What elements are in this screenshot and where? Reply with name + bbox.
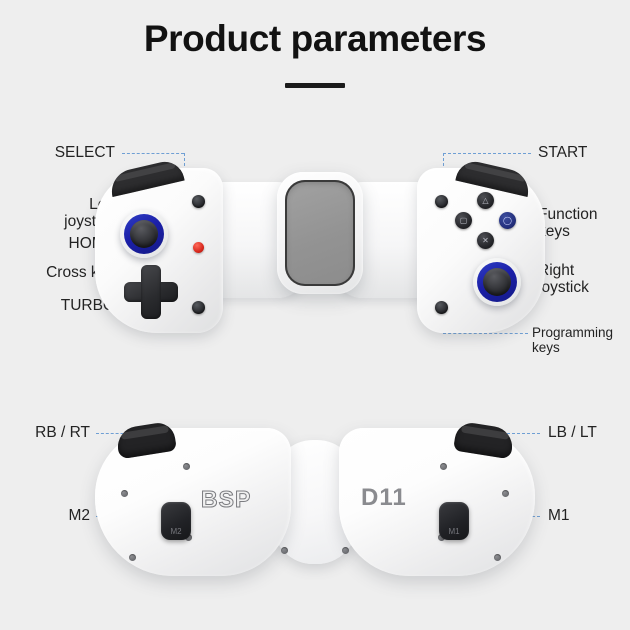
dpad-vertical-bar[interactable] — [141, 265, 161, 319]
lb-lt-trigger[interactable] — [453, 421, 515, 460]
label-lb-lt: LB / LT — [548, 424, 630, 441]
left-shoulder-bumper — [107, 158, 184, 197]
phone-holder-pad — [285, 180, 355, 286]
m1-paddle-button[interactable]: M1 — [439, 502, 469, 540]
title-underline-accent — [285, 83, 345, 88]
rear-shell-right: M1 D11 — [339, 428, 535, 576]
cross-key-dpad[interactable] — [124, 265, 178, 319]
label-start: START — [538, 144, 630, 161]
screw-hole — [121, 490, 128, 497]
brand-logo: BSP — [201, 486, 251, 513]
infographic-canvas: Product parameters SELECT Left joystick … — [0, 0, 630, 630]
label-programming-keys: Programming keys — [532, 325, 630, 355]
brand-model: D11 — [361, 484, 407, 512]
start-button[interactable] — [435, 195, 448, 208]
turbo-button[interactable] — [192, 301, 205, 314]
face-button-cross[interactable]: ✕ — [477, 232, 494, 249]
home-button[interactable] — [193, 242, 204, 253]
screw-hole — [281, 547, 288, 554]
programming-keys-button[interactable] — [435, 301, 448, 314]
label-m1: M1 — [548, 507, 630, 524]
left-joystick[interactable] — [120, 210, 168, 258]
gamepad-front-view: △ ▢ ◯ ✕ — [95, 160, 545, 350]
label-select: SELECT — [0, 144, 115, 161]
right-joystick[interactable] — [473, 258, 521, 306]
face-button-circle[interactable]: ◯ — [499, 212, 516, 229]
face-button-triangle[interactable]: △ — [477, 192, 494, 209]
left-joystick-cap[interactable] — [130, 220, 158, 248]
leader-line-select — [122, 153, 184, 154]
label-right-joystick: Right joystick — [538, 262, 630, 297]
right-grip: △ ▢ ◯ ✕ — [417, 168, 545, 333]
gamepad-rear-view: M2 BSP M1 D11 — [95, 418, 535, 583]
screw-hole — [502, 490, 509, 497]
label-function-keys: Function keys — [538, 206, 630, 241]
select-button[interactable] — [192, 195, 205, 208]
screw-hole — [494, 554, 501, 561]
leader-line-start — [443, 153, 531, 154]
right-shoulder-bumper — [455, 158, 532, 197]
rb-rt-trigger[interactable] — [115, 421, 177, 460]
face-button-square[interactable]: ▢ — [455, 212, 472, 229]
screw-hole — [183, 463, 190, 470]
label-m2: M2 — [0, 507, 90, 524]
label-rb-rt: RB / RT — [0, 424, 90, 441]
screw-hole — [129, 554, 136, 561]
screw-hole — [342, 547, 349, 554]
rear-shell-left: M2 BSP — [95, 428, 291, 576]
left-grip — [95, 168, 223, 333]
m2-paddle-button[interactable]: M2 — [161, 502, 191, 540]
right-joystick-cap[interactable] — [483, 268, 511, 296]
page-title: Product parameters — [0, 18, 630, 60]
phone-holder-bracket — [277, 172, 363, 294]
screw-hole — [440, 463, 447, 470]
